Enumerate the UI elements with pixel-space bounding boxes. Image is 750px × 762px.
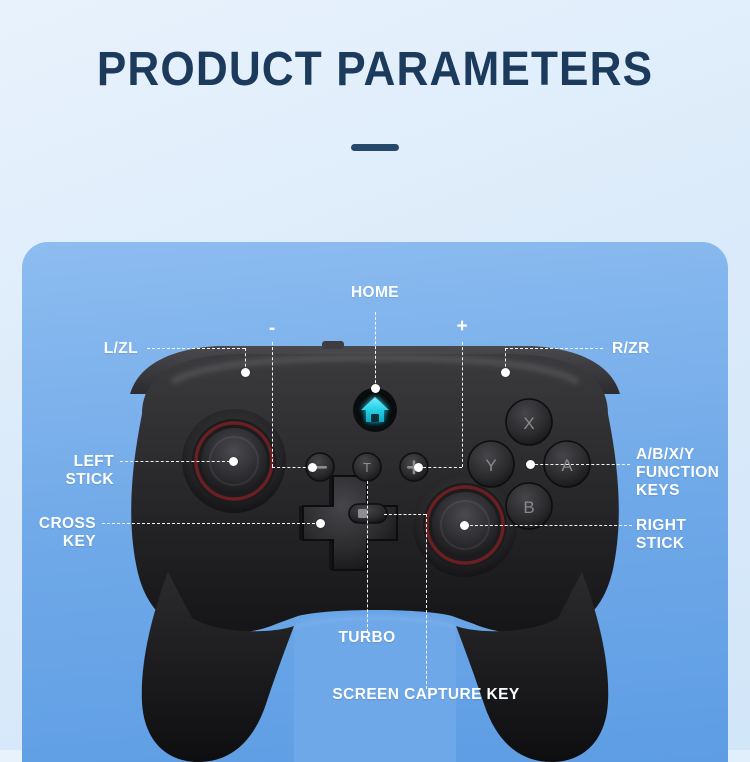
leader-plus-h bbox=[418, 467, 462, 468]
label-function-keys: A/B/X/Y FUNCTION KEYS bbox=[636, 446, 728, 500]
svg-text:X: X bbox=[523, 414, 534, 433]
label-home: HOME bbox=[325, 284, 425, 302]
label-turbo: TURBO bbox=[302, 629, 432, 647]
label-screen-capture: SCREEN CAPTURE KEY bbox=[306, 686, 546, 704]
leader-r-zr-h bbox=[505, 348, 603, 349]
label-minus: - bbox=[262, 322, 282, 336]
dot-l-zl bbox=[241, 368, 250, 377]
page-title: PRODUCT PARAMETERS bbox=[30, 46, 720, 94]
dot-plus bbox=[414, 463, 423, 472]
home-button bbox=[353, 388, 397, 432]
title-divider bbox=[351, 144, 399, 151]
dot-function-keys bbox=[526, 460, 535, 469]
label-left-stick: LEFT STICK bbox=[22, 453, 114, 489]
leader-minus-v bbox=[272, 342, 273, 467]
leader-capture-h bbox=[384, 514, 426, 515]
leader-cross-key bbox=[102, 523, 320, 524]
label-right-stick: RIGHT STICK bbox=[636, 517, 726, 553]
dot-minus bbox=[308, 463, 317, 472]
usb-port bbox=[322, 341, 344, 349]
leader-function-keys bbox=[530, 464, 630, 465]
leader-capture-v bbox=[426, 514, 427, 689]
leader-plus-v bbox=[462, 342, 463, 467]
dot-right-stick bbox=[460, 521, 469, 530]
dot-cross-key bbox=[316, 519, 325, 528]
svg-text:A: A bbox=[561, 456, 573, 475]
screen-capture-button bbox=[349, 504, 387, 523]
infographic-root: PRODUCT PARAMETERS bbox=[0, 0, 750, 750]
dot-home bbox=[371, 384, 380, 393]
leader-turbo-v bbox=[367, 481, 368, 632]
small-buttons: T bbox=[306, 453, 428, 481]
svg-text:B: B bbox=[523, 498, 534, 517]
label-plus: + bbox=[452, 320, 472, 334]
leader-left-stick bbox=[120, 461, 230, 462]
leader-right-stick bbox=[460, 525, 632, 526]
label-r-zr: R/ZR bbox=[612, 340, 722, 358]
dot-r-zr bbox=[501, 368, 510, 377]
label-cross-key: CROSS KEY bbox=[22, 515, 96, 551]
leader-home-v bbox=[375, 312, 376, 388]
svg-text:Y: Y bbox=[485, 456, 496, 475]
svg-text:T: T bbox=[363, 460, 371, 475]
dot-left-stick bbox=[229, 457, 238, 466]
label-l-zl: L/ZL bbox=[42, 340, 138, 358]
leader-l-zl-h bbox=[147, 348, 245, 349]
diagram-panel: T X Y A B bbox=[22, 242, 728, 762]
